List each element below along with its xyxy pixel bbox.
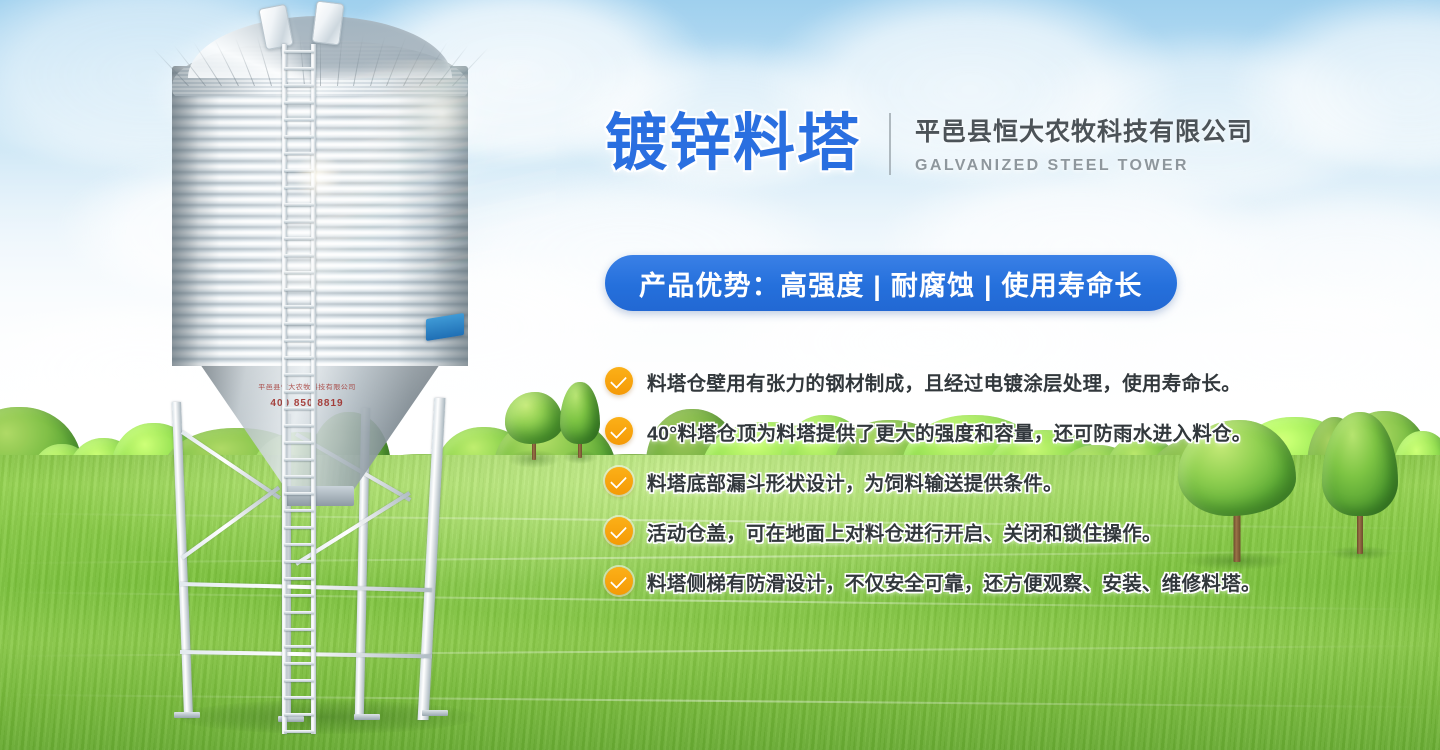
feature-item: 40°料塔仓顶为料塔提供了更大的强度和容量，还可防雨水进入料仓。	[605, 406, 1305, 456]
ladder-rung	[284, 611, 314, 614]
ladder-rung	[284, 271, 314, 274]
ladder-rung	[284, 220, 314, 223]
ladder-rung	[284, 492, 314, 495]
ladder-rung	[284, 526, 314, 529]
ladder-rung	[284, 118, 314, 121]
ladder-rung	[284, 679, 314, 682]
check-circle-icon	[605, 367, 633, 395]
page-title: 镀锌料塔	[605, 113, 861, 175]
advantage-pill: 产品优势：高强度 | 耐腐蚀 | 使用寿命长	[605, 255, 1177, 311]
ladder-rung	[284, 713, 314, 716]
feature-item: 料塔底部漏斗形状设计，为饲料输送提供条件。	[605, 456, 1305, 506]
foreground-conifer	[1322, 404, 1398, 554]
headline-row: 镀锌料塔 平邑县恒大农牧科技有限公司 GALVANIZED STEEL TOWE…	[605, 112, 1253, 175]
advantage-pill-label: 产品优势：高强度 | 耐腐蚀 | 使用寿命长	[639, 264, 1143, 303]
ladder-rung	[284, 169, 314, 172]
silo-side-ladder	[282, 44, 316, 734]
ladder-rung	[284, 628, 314, 631]
ladder-rung	[284, 152, 314, 155]
banner-content: 镀锌料塔 平邑县恒大农牧科技有限公司 GALVANIZED STEEL TOWE…	[605, 0, 1305, 750]
headline-divider	[889, 113, 891, 175]
feature-list: 料塔仓壁用有张力的钢材制成，且经过电镀涂层处理，使用寿命长。40°料塔仓顶为料塔…	[605, 356, 1305, 606]
ladder-rung	[284, 475, 314, 478]
ladder-rung	[284, 509, 314, 512]
feature-item: 活动仓盖，可在地面上对料仓进行开启、关闭和锁住操作。	[605, 506, 1305, 556]
conifer-canopy	[1322, 412, 1398, 516]
check-circle-icon	[605, 467, 633, 495]
feature-item-label: 活动仓盖，可在地面上对料仓进行开启、关闭和锁住操作。	[647, 517, 1162, 546]
company-block: 平邑县恒大农牧科技有限公司 GALVANIZED STEEL TOWER	[915, 112, 1253, 175]
feature-item-label: 40°料塔仓顶为料塔提供了更大的强度和容量，还可防雨水进入料仓。	[647, 417, 1252, 446]
ladder-rung	[284, 50, 314, 53]
ladder-rung	[284, 186, 314, 189]
ladder-rung	[284, 254, 314, 257]
check-circle-icon	[605, 567, 633, 595]
ladder-rung	[284, 373, 314, 376]
ladder-rung	[284, 577, 314, 580]
silo-foot-plate	[174, 712, 200, 718]
ladder-rung	[284, 458, 314, 461]
silo-leg-brace	[181, 486, 280, 560]
check-circle-icon	[605, 417, 633, 445]
ladder-rung	[284, 237, 314, 240]
silo-leg	[418, 398, 446, 720]
ladder-rung	[284, 407, 314, 410]
ladder-rung	[284, 67, 314, 70]
ladder-rung	[284, 356, 314, 359]
ladder-rung	[284, 424, 314, 427]
feature-item-label: 料塔底部漏斗形状设计，为饲料输送提供条件。	[647, 467, 1063, 496]
ladder-rung	[284, 560, 314, 563]
check-circle-icon	[605, 517, 633, 545]
feature-item-label: 料塔侧梯有防滑设计，不仅安全可靠，还方便观察、安装、维修料塔。	[647, 567, 1261, 596]
product-image-silo: 平邑县恒大农牧科技有限公司 400 850 8819	[96, 0, 516, 750]
ladder-rung	[284, 203, 314, 206]
company-name-english: GALVANIZED STEEL TOWER	[915, 157, 1253, 175]
foreground-conifer	[560, 374, 600, 458]
hero-banner: 平邑县恒大农牧科技有限公司 400 850 8819 镀锌料塔 平邑县恒大农牧科…	[0, 0, 1440, 750]
ladder-rung	[284, 101, 314, 104]
company-name: 平邑县恒大农牧科技有限公司	[915, 112, 1253, 148]
ladder-rung	[284, 135, 314, 138]
ladder-rung	[284, 390, 314, 393]
feature-item: 料塔仓壁用有张力的钢材制成，且经过电镀涂层处理，使用寿命长。	[605, 356, 1305, 406]
ladder-rung	[284, 730, 314, 733]
ladder-rung	[284, 662, 314, 665]
ladder-rung	[284, 441, 314, 444]
silo-foot-plate	[422, 710, 448, 716]
ladder-rung	[284, 339, 314, 342]
ladder-rung	[284, 645, 314, 648]
ladder-rung	[284, 696, 314, 699]
conifer-canopy	[560, 382, 600, 444]
feature-item: 料塔侧梯有防滑设计，不仅安全可靠，还方便观察、安装、维修料塔。	[605, 556, 1305, 606]
silo-lid-panel-right	[312, 0, 345, 45]
silo-corrugated-body	[172, 66, 468, 366]
ladder-rung	[284, 84, 314, 87]
silo-ground-shadow	[176, 700, 476, 734]
feature-item-label: 料塔仓壁用有张力的钢材制成，且经过电镀涂层处理，使用寿命长。	[647, 367, 1241, 396]
ladder-rung	[284, 305, 314, 308]
ladder-rung	[284, 322, 314, 325]
ladder-rung	[284, 594, 314, 597]
silo-foot-plate	[354, 714, 380, 720]
ladder-rung	[284, 543, 314, 546]
ladder-rung	[284, 288, 314, 291]
